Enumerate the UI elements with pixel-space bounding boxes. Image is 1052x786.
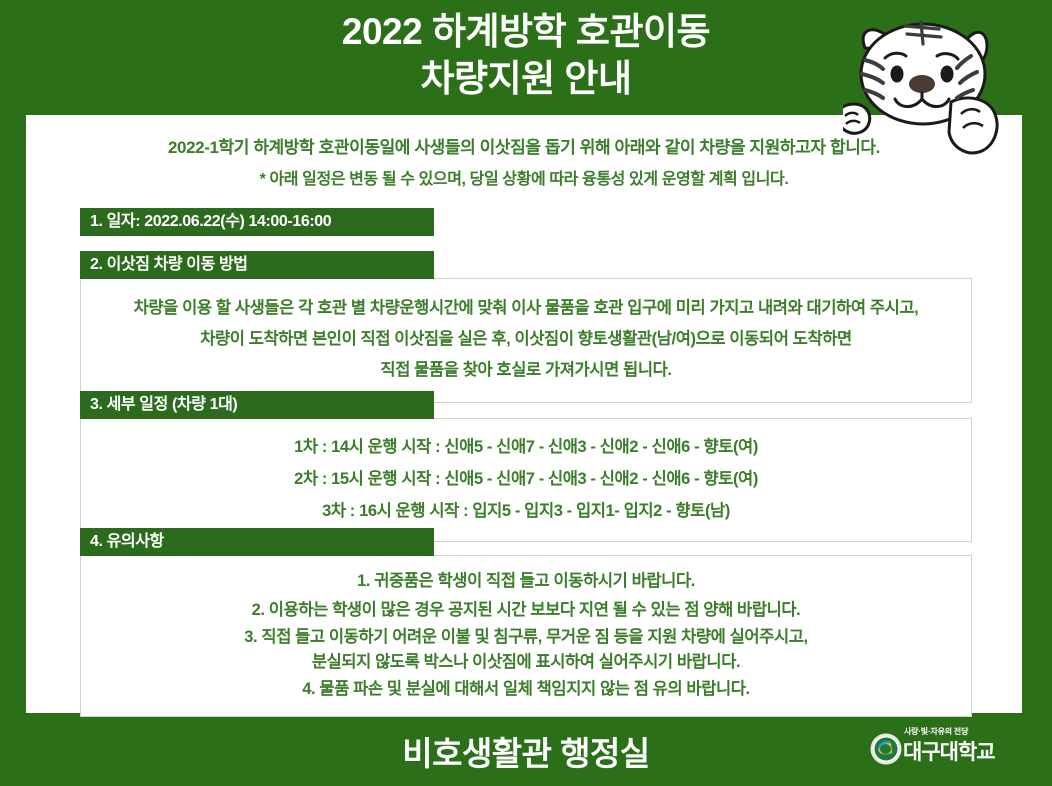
white-tiger-mascot-icon (843, 2, 1048, 170)
section-notice: 4. 유의사항 1. 귀중품은 학생이 직접 들고 이동하시기 바랍니다. 2.… (80, 528, 972, 717)
section-schedule-heading: 3. 세부 일정 (차량 1대) (80, 391, 434, 419)
schedule-run-1: 1차 : 14시 운행 시작 : 신애5 - 신애7 - 신애3 - 신애2 -… (95, 431, 957, 463)
section-method-heading: 2. 이삿짐 차량 이동 방법 (80, 251, 434, 279)
method-line-1: 차량을 이용 할 사생들은 각 호관 별 차량운행시간에 맞춰 이사 물품을 호… (95, 293, 957, 324)
section-schedule-body: 1차 : 14시 운행 시작 : 신애5 - 신애7 - 신애3 - 신애2 -… (80, 418, 972, 542)
notice-item-3-cont: 분실되지 않도록 박스나 이삿짐에 표시하여 실어주시기 바랍니다. (95, 650, 957, 675)
university-name: 대구대학교 (903, 736, 995, 766)
notice-item-2: 2. 이용하는 학생이 많은 경우 공지된 시간 보보다 지연 될 수 있는 점… (95, 596, 957, 625)
method-line-2: 차량이 도착하면 본인이 직접 이삿짐을 실은 후, 이삿짐이 향토생활관(남/… (95, 324, 957, 355)
notice-item-3: 3. 직접 들고 이동하기 어려운 이불 및 침구류, 무거운 짐 등을 지원 … (95, 625, 957, 650)
section-notice-heading: 4. 유의사항 (80, 528, 434, 556)
daegu-university-emblem-icon (870, 733, 902, 765)
university-logo: 사랑·빛·자유의 전당 대구대학교 (870, 724, 1030, 772)
notice-item-4: 4. 물품 파손 및 분실에 대해서 일체 책임지지 않는 점 유의 바랍니다. (95, 675, 957, 704)
method-line-3: 직접 물품을 찾아 호실로 가져가시면 됩니다. (95, 355, 957, 386)
section-schedule: 3. 세부 일정 (차량 1대) 1차 : 14시 운행 시작 : 신애5 - … (80, 391, 972, 542)
page-title-line1: 2022 하계방학 호관이동 (342, 11, 710, 52)
schedule-run-2: 2차 : 15시 운행 시작 : 신애5 - 신애7 - 신애3 - 신애2 -… (95, 463, 957, 495)
section-method: 2. 이삿짐 차량 이동 방법 차량을 이용 할 사생들은 각 호관 별 차량운… (80, 251, 972, 403)
section-notice-body: 1. 귀중품은 학생이 직접 들고 이동하시기 바랍니다. 2. 이용하는 학생… (80, 555, 972, 717)
section-method-body: 차량을 이용 할 사생들은 각 호관 별 차량운행시간에 맞춰 이사 물품을 호… (80, 278, 972, 403)
schedule-run-3: 3차 : 16시 운행 시작 : 입지5 - 입지3 - 입지1- 입지2 - … (95, 495, 957, 527)
poster-root: 2022 하계방학 호관이동 차량지원 안내 (0, 0, 1052, 786)
content-card: 2022-1학기 하계방학 호관이동일에 사생들의 이삿짐을 돕기 위해 아래와… (26, 115, 1022, 713)
notice-item-1: 1. 귀중품은 학생이 직접 들고 이동하시기 바랍니다. (95, 567, 957, 596)
section-date: 1. 일자: 2022.06.22(수) 14:00-16:00 (80, 208, 972, 236)
section-date-heading: 1. 일자: 2022.06.22(수) 14:00-16:00 (80, 208, 434, 236)
intro-line-2: * 아래 일정은 변동 될 수 있으며, 당일 상황에 따라 융통성 있게 운영… (26, 169, 1022, 190)
